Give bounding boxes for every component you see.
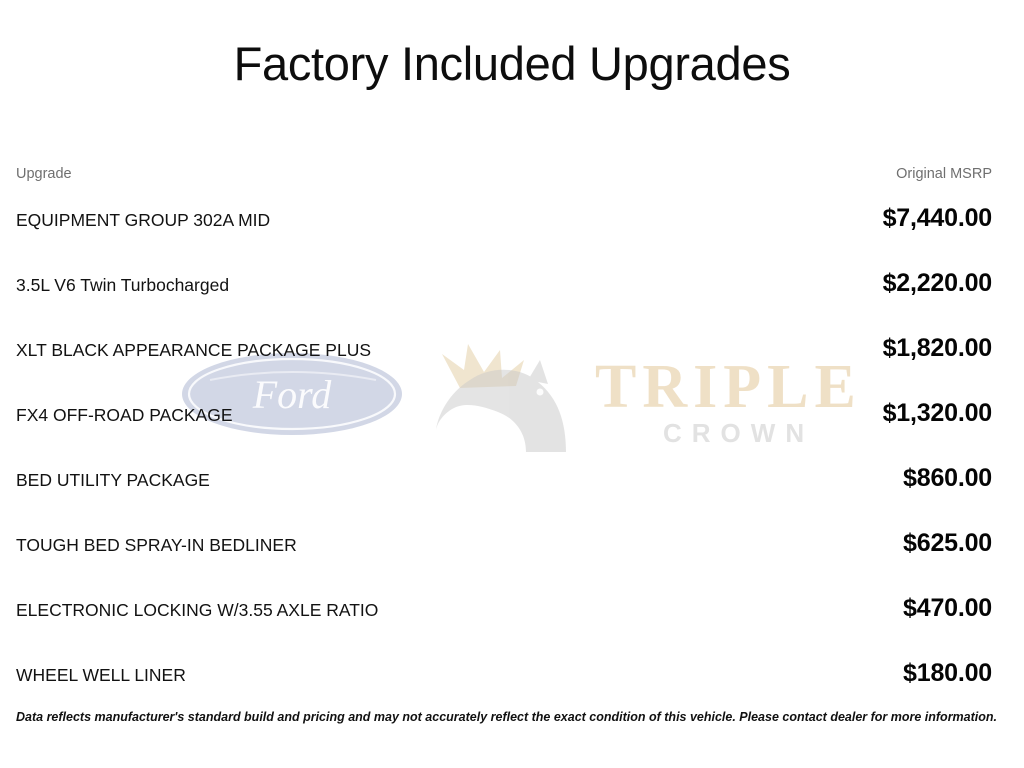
upgrade-price: $1,320.00 (883, 377, 992, 428)
table-row: WHEEL WELL LINER $180.00 (16, 637, 992, 702)
upgrade-price: $2,220.00 (883, 247, 992, 298)
column-header-upgrade: Upgrade (16, 166, 72, 182)
table-row: ELECTRONIC LOCKING W/3.55 AXLE RATIO $47… (16, 572, 992, 637)
upgrade-label: WHEEL WELL LINER (16, 637, 186, 686)
upgrade-label: XLT BLACK APPEARANCE PACKAGE PLUS (16, 312, 371, 361)
table-header-row: Upgrade Original MSRP (16, 152, 992, 182)
table-row: BED UTILITY PACKAGE $860.00 (16, 442, 992, 507)
upgrade-price: $1,820.00 (883, 312, 992, 363)
page-title: Factory Included Upgrades (0, 36, 1024, 92)
upgrade-price: $7,440.00 (883, 182, 992, 233)
table-row: EQUIPMENT GROUP 302A MID $7,440.00 (16, 182, 992, 247)
upgrades-document: Ford TRIPLE CROWN Factory Included Upgra… (0, 0, 1024, 768)
table-row: TOUGH BED SPRAY-IN BEDLINER $625.00 (16, 507, 992, 572)
table-row: 3.5L V6 Twin Turbocharged $2,220.00 (16, 247, 992, 312)
upgrade-price: $860.00 (903, 442, 992, 493)
disclaimer-text: Data reflects manufacturer's standard bu… (16, 710, 1006, 724)
upgrade-label: TOUGH BED SPRAY-IN BEDLINER (16, 507, 297, 556)
upgrade-label: ELECTRONIC LOCKING W/3.55 AXLE RATIO (16, 572, 378, 621)
upgrade-label: BED UTILITY PACKAGE (16, 442, 210, 491)
column-header-msrp: Original MSRP (896, 166, 992, 182)
upgrade-label: FX4 OFF-ROAD PACKAGE (16, 377, 233, 426)
upgrade-price: $470.00 (903, 572, 992, 623)
table-row: XLT BLACK APPEARANCE PACKAGE PLUS $1,820… (16, 312, 992, 377)
table-row: FX4 OFF-ROAD PACKAGE $1,320.00 (16, 377, 992, 442)
upgrades-table: Upgrade Original MSRP EQUIPMENT GROUP 30… (16, 152, 992, 702)
upgrade-price: $180.00 (903, 637, 992, 688)
upgrade-label: EQUIPMENT GROUP 302A MID (16, 182, 270, 231)
upgrade-label: 3.5L V6 Twin Turbocharged (16, 247, 229, 296)
upgrade-price: $625.00 (903, 507, 992, 558)
